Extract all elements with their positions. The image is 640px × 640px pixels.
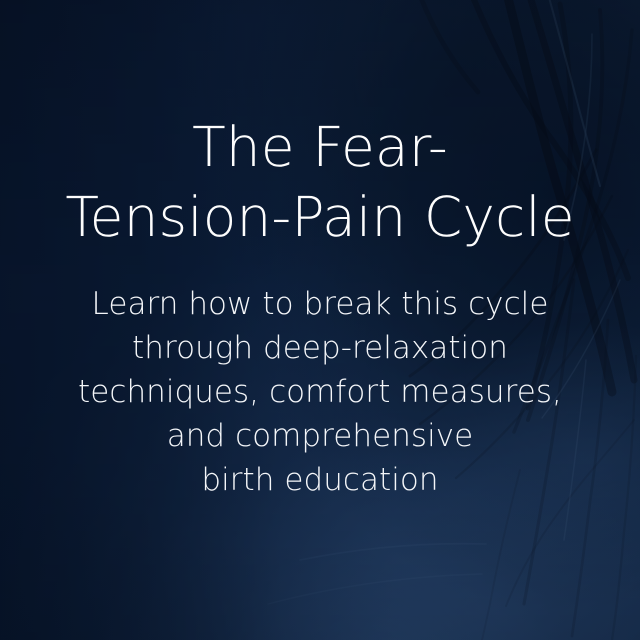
- page-subtitle-line-2: through deep-relaxation: [40, 326, 600, 370]
- slide-content: The Fear- Tension-Pain Cycle Learn how t…: [0, 0, 640, 640]
- page-subtitle-line-1: Learn how to break this cycle: [40, 282, 600, 326]
- slide-canvas: The Fear- Tension-Pain Cycle Learn how t…: [0, 0, 640, 640]
- page-subtitle: Learn how to break this cycle through de…: [40, 282, 600, 502]
- page-title-line-1: The Fear-: [20, 112, 620, 182]
- page-subtitle-line-5: birth education: [40, 458, 600, 502]
- page-subtitle-line-3: techniques, comfort measures,: [40, 370, 600, 414]
- page-title-line-2: Tension-Pain Cycle: [20, 182, 620, 252]
- page-subtitle-line-4: and comprehensive: [40, 414, 600, 458]
- page-title: The Fear- Tension-Pain Cycle: [20, 112, 620, 252]
